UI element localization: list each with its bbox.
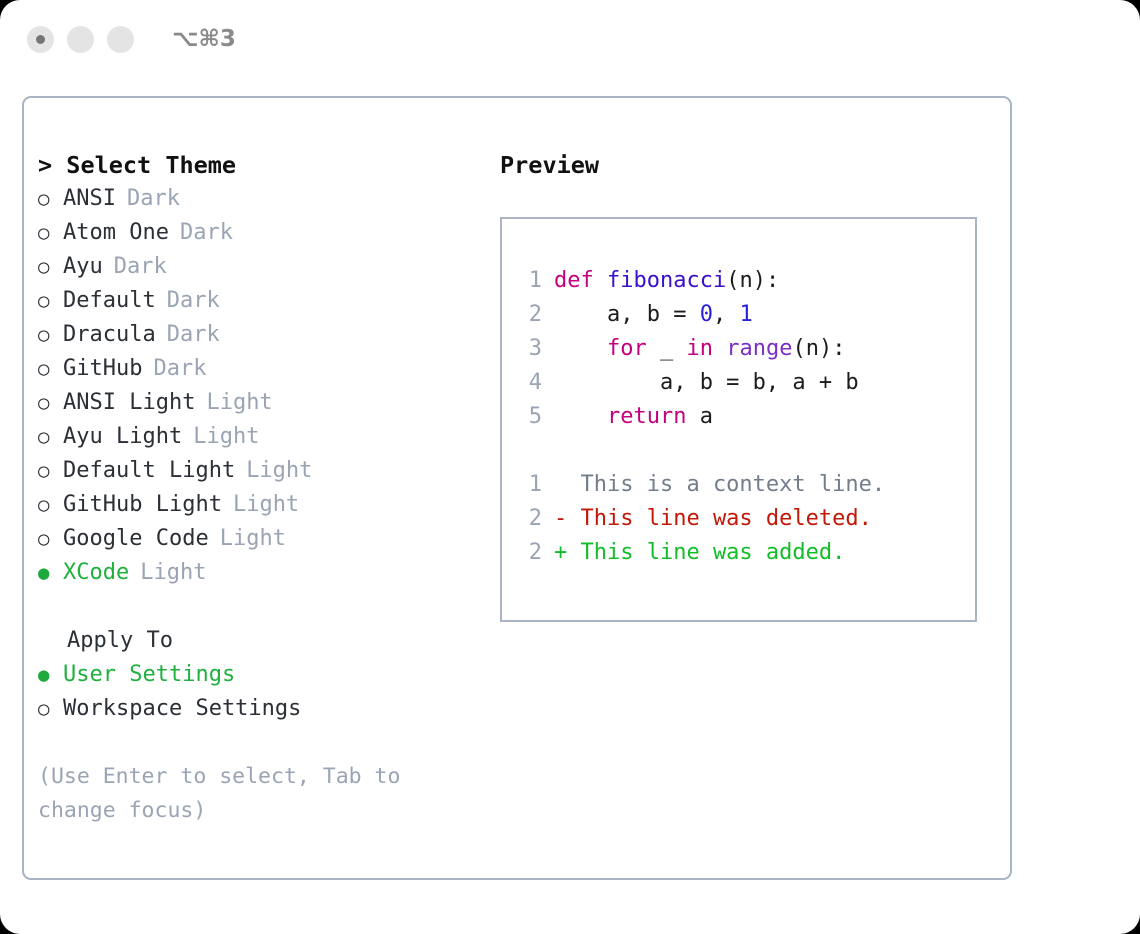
- theme-option-label: GitHub: [63, 352, 142, 386]
- apply-to-heading: Apply To: [38, 624, 478, 658]
- diff-line-text: - This line was deleted.: [554, 502, 872, 536]
- apply-to-list: ●User Settings○Workspace Settings: [38, 658, 478, 726]
- theme-option-label: Atom One: [63, 216, 169, 250]
- code-token: (n):: [792, 336, 845, 361]
- radio-unselected-icon: ○: [38, 284, 63, 318]
- radio-unselected-icon: ○: [38, 488, 63, 522]
- theme-option-default[interactable]: ○DefaultDark: [38, 284, 478, 318]
- apply-to-option-label: Workspace Settings: [63, 692, 301, 726]
- theme-option-tag: Light: [220, 522, 286, 556]
- radio-unselected-icon: ○: [38, 216, 63, 250]
- diff-line-number: 2: [512, 502, 542, 536]
- code-line: 1def fibonacci(n):: [512, 264, 969, 298]
- radio-unselected-icon: ○: [38, 386, 63, 420]
- code-token: _: [647, 336, 687, 361]
- theme-option-tag: Light: [193, 420, 259, 454]
- spacer: [38, 590, 478, 624]
- window-controls: [27, 26, 134, 53]
- code-line-number: 4: [512, 366, 542, 400]
- radio-unselected-icon: ○: [38, 352, 63, 386]
- code-token: in: [686, 336, 713, 361]
- window-dot-active-inner: [36, 35, 45, 44]
- radio-unselected-icon: ○: [38, 318, 63, 352]
- code-diff-gap: [512, 434, 969, 468]
- theme-option-label: ANSI Light: [63, 386, 195, 420]
- code-token: [554, 336, 607, 361]
- radio-unselected-icon: ○: [38, 250, 63, 284]
- theme-option-label: Dracula: [63, 318, 156, 352]
- window-dot-second-icon[interactable]: [67, 26, 94, 53]
- window-dot-third-icon[interactable]: [107, 26, 134, 53]
- diff-line-text: + This line was added.: [554, 536, 845, 570]
- select-theme-heading-text: Select Theme: [66, 151, 236, 179]
- code-token: a: [686, 404, 713, 429]
- theme-option-tag: Light: [140, 556, 206, 590]
- code-line: 5 return a: [512, 400, 969, 434]
- titlebar-shortcut: ⌥⌘3: [172, 26, 236, 52]
- code-line-number: 2: [512, 298, 542, 332]
- theme-option-label: Ayu: [63, 250, 103, 284]
- code-token: a, b = b, a + b: [554, 370, 859, 395]
- code-line: 2 a, b = 0, 1: [512, 298, 969, 332]
- code-lines: 1def fibonacci(n):2 a, b = 0, 13 for _ i…: [512, 264, 969, 434]
- theme-list: ○ANSIDark○Atom OneDark○AyuDark○DefaultDa…: [38, 182, 478, 590]
- titlebar: ⌥⌘3: [0, 0, 1140, 78]
- theme-option-tag: Dark: [127, 182, 180, 216]
- code-token: a, b =: [554, 302, 700, 327]
- radio-selected-icon: ●: [38, 556, 63, 590]
- theme-option-tag: Light: [233, 488, 299, 522]
- window-dot-active-icon[interactable]: [27, 26, 54, 53]
- theme-option-ayu-light[interactable]: ○Ayu LightLight: [38, 420, 478, 454]
- theme-option-tag: Dark: [153, 352, 206, 386]
- theme-option-ayu[interactable]: ○AyuDark: [38, 250, 478, 284]
- diff-lines: 1 This is a context line.2- This line wa…: [512, 468, 969, 570]
- theme-option-tag: Light: [246, 454, 312, 488]
- radio-unselected-icon: ○: [38, 454, 63, 488]
- radio-selected-icon: ●: [38, 658, 63, 692]
- diff-line-text: This is a context line.: [554, 468, 885, 502]
- code-line-text: a, b = 0, 1: [554, 298, 753, 332]
- theme-option-tag: Dark: [180, 216, 233, 250]
- radio-unselected-icon: ○: [38, 182, 63, 216]
- code-line: 4 a, b = b, a + b: [512, 366, 969, 400]
- theme-option-dracula[interactable]: ○DraculaDark: [38, 318, 478, 352]
- theme-option-google-code[interactable]: ○Google CodeLight: [38, 522, 478, 556]
- code-line-text: def fibonacci(n):: [554, 264, 779, 298]
- apply-to-option-label: User Settings: [63, 658, 235, 692]
- code-token: return: [607, 404, 686, 429]
- main-panel: > Select Theme ○ANSIDark○Atom OneDark○Ay…: [22, 96, 1012, 880]
- theme-option-label: Default Light: [63, 454, 235, 488]
- theme-option-label: XCode: [63, 556, 129, 590]
- code-token: 0: [700, 302, 713, 327]
- diff-line-add: 2+ This line was added.: [512, 536, 969, 570]
- theme-option-github-light[interactable]: ○GitHub LightLight: [38, 488, 478, 522]
- code-line-text: a, b = b, a + b: [554, 366, 859, 400]
- app-window: ⌥⌘3 > Select Theme ○ANSIDark○Atom OneDar…: [0, 0, 1140, 934]
- theme-option-default-light[interactable]: ○Default LightLight: [38, 454, 478, 488]
- preview-box: 1def fibonacci(n):2 a, b = 0, 13 for _ i…: [500, 217, 977, 622]
- theme-option-tag: Dark: [114, 250, 167, 284]
- theme-option-ansi-light[interactable]: ○ANSI LightLight: [38, 386, 478, 420]
- theme-option-tag: Light: [206, 386, 272, 420]
- radio-unselected-icon: ○: [38, 522, 63, 556]
- code-token: def: [554, 268, 607, 293]
- diff-line-del: 2- This line was deleted.: [512, 502, 969, 536]
- theme-option-ansi[interactable]: ○ANSIDark: [38, 182, 478, 216]
- code-area: 1def fibonacci(n):2 a, b = 0, 13 for _ i…: [512, 264, 969, 570]
- code-token: ,: [713, 302, 740, 327]
- diff-line-ctx: 1 This is a context line.: [512, 468, 969, 502]
- select-theme-heading: > Select Theme: [38, 148, 478, 182]
- diff-line-number: 2: [512, 536, 542, 570]
- code-line-number: 1: [512, 264, 542, 298]
- theme-option-github[interactable]: ○GitHubDark: [38, 352, 478, 386]
- code-line-text: for _ in range(n):: [554, 332, 845, 366]
- hint-text: (Use Enter to select, Tab to change focu…: [38, 760, 448, 828]
- code-token: fibonacci: [607, 268, 726, 293]
- diff-line-number: 1: [512, 468, 542, 502]
- theme-option-label: Google Code: [63, 522, 209, 556]
- code-token: range: [726, 336, 792, 361]
- code-line: 3 for _ in range(n):: [512, 332, 969, 366]
- code-token: [713, 336, 726, 361]
- apply-to-option-workspace-settings[interactable]: ○Workspace Settings: [38, 692, 478, 726]
- code-token: for: [607, 336, 647, 361]
- theme-option-tag: Dark: [167, 318, 220, 352]
- code-token: (n):: [726, 268, 779, 293]
- select-theme-heading-prefix: >: [38, 151, 66, 179]
- preview-heading: Preview: [500, 148, 1000, 182]
- theme-option-atom-one[interactable]: ○Atom OneDark: [38, 216, 478, 250]
- theme-option-label: GitHub Light: [63, 488, 222, 522]
- code-token: [554, 404, 607, 429]
- radio-unselected-icon: ○: [38, 692, 63, 726]
- code-line-text: return a: [554, 400, 713, 434]
- theme-option-label: Ayu Light: [63, 420, 182, 454]
- theme-column: > Select Theme ○ANSIDark○Atom OneDark○Ay…: [38, 148, 478, 828]
- theme-option-tag: Dark: [167, 284, 220, 318]
- preview-column: Preview 1def fibonacci(n):2 a, b = 0, 13…: [500, 148, 1000, 622]
- apply-to-option-user-settings[interactable]: ●User Settings: [38, 658, 478, 692]
- theme-option-label: Default: [63, 284, 156, 318]
- code-line-number: 5: [512, 400, 542, 434]
- code-token: 1: [739, 302, 752, 327]
- radio-unselected-icon: ○: [38, 420, 63, 454]
- code-line-number: 3: [512, 332, 542, 366]
- theme-option-label: ANSI: [63, 182, 116, 216]
- theme-option-xcode[interactable]: ●XCodeLight: [38, 556, 478, 590]
